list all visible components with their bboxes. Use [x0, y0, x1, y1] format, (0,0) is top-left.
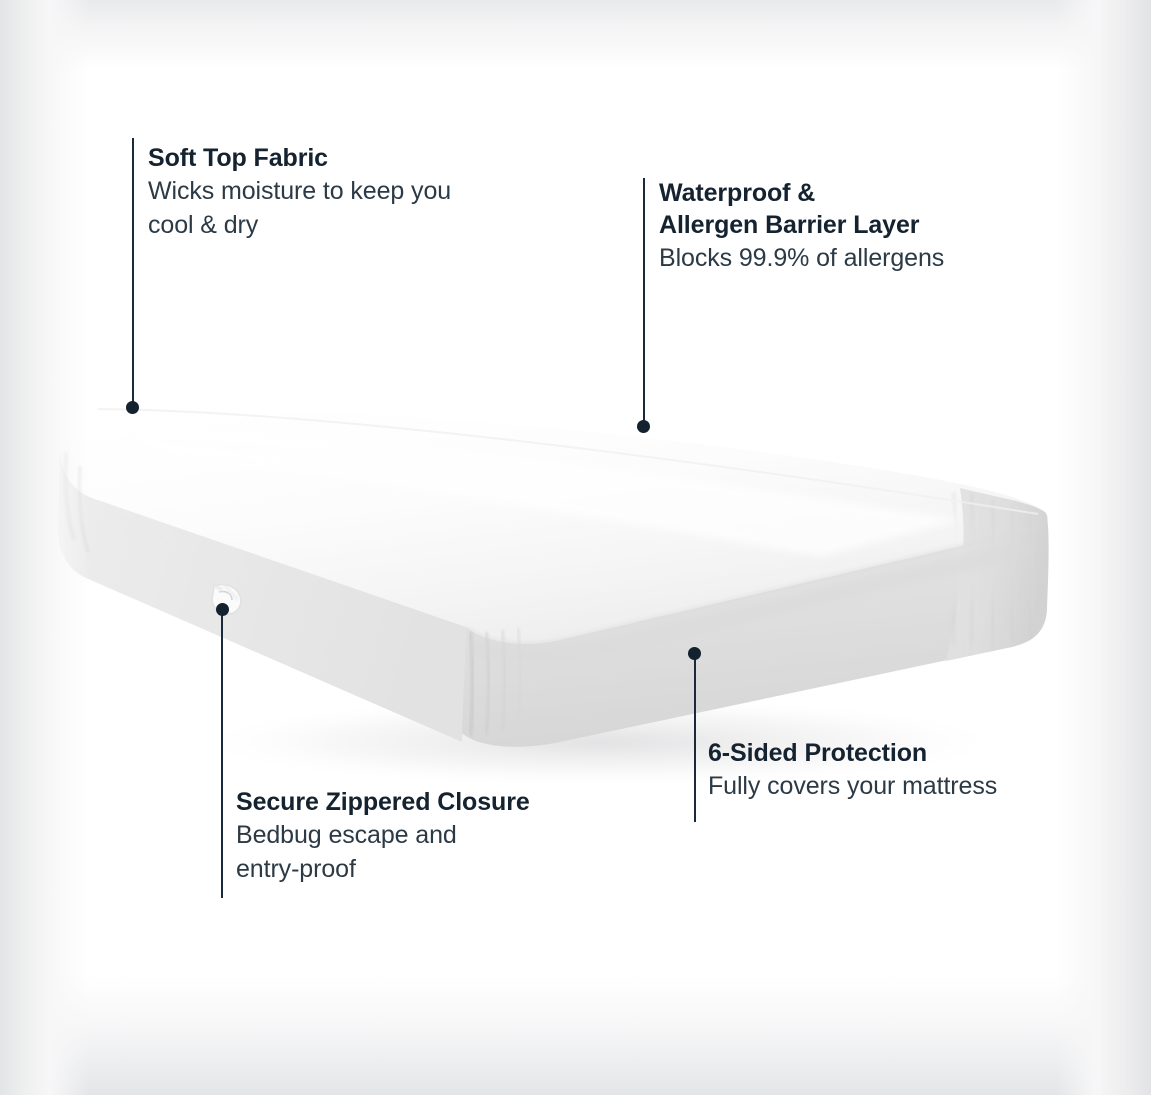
callout-description-waterproof-allergen-barrier: Blocks 99.9% of allergens	[659, 241, 1089, 275]
callout-title-six-sided-protection: 6-Sided Protection	[708, 737, 1128, 769]
callout-description-six-sided-protection: Fully covers your mattress	[708, 769, 1128, 803]
callout-dot-soft-top-fabric	[126, 401, 139, 414]
callout-description-secure-zippered-closure: Bedbug escape and entry-proof	[236, 818, 666, 886]
callout-dot-six-sided-protection	[688, 647, 701, 660]
callout-six-sided-protection: 6-Sided Protection Fully covers your mat…	[708, 737, 1128, 803]
leader-line-soft-top-fabric	[132, 138, 134, 406]
callout-dot-waterproof-allergen-barrier	[637, 420, 650, 433]
infographic-canvas: Soft Top Fabric Wicks moisture to keep y…	[0, 0, 1151, 1095]
callout-title-secure-zippered-closure: Secure Zippered Closure	[236, 786, 666, 818]
leader-line-secure-zippered-closure	[221, 612, 223, 898]
leader-line-six-sided-protection	[694, 657, 696, 822]
callout-soft-top-fabric: Soft Top Fabric Wicks moisture to keep y…	[148, 142, 618, 242]
callout-secure-zippered-closure: Secure Zippered Closure Bedbug escape an…	[236, 786, 666, 886]
callout-waterproof-allergen-barrier: Waterproof & Allergen Barrier Layer Bloc…	[659, 177, 1089, 275]
callout-description-soft-top-fabric: Wicks moisture to keep you cool & dry	[148, 174, 618, 242]
callout-title-soft-top-fabric: Soft Top Fabric	[148, 142, 618, 174]
callout-dot-secure-zippered-closure	[216, 603, 229, 616]
leader-line-waterproof-allergen-barrier	[643, 178, 645, 426]
callout-title-waterproof-allergen-barrier: Waterproof & Allergen Barrier Layer	[659, 177, 1089, 241]
